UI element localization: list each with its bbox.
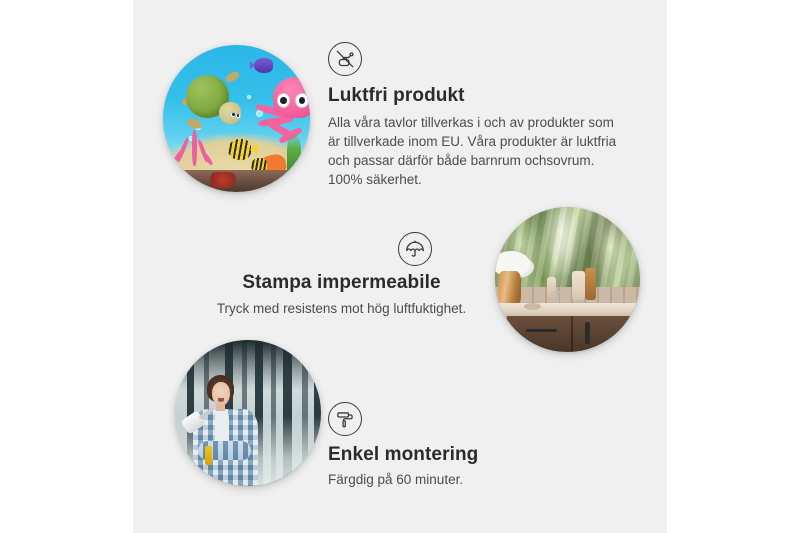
soap-dish — [524, 303, 541, 310]
octopus-icon — [257, 77, 310, 139]
no-spray-bottle-icon — [328, 42, 362, 76]
coral-icon — [175, 124, 213, 165]
photo-underwater-kids-mural — [163, 45, 310, 192]
feature-text: Tryck med resistens mot hög luftfuktighe… — [215, 299, 468, 318]
striped-fish-icon — [228, 139, 252, 160]
dispenser — [572, 271, 585, 300]
feature-title: Stampa impermeabile — [215, 272, 468, 294]
vanity-cabinet — [507, 316, 640, 352]
woman-figure — [184, 372, 275, 486]
icon-row — [215, 232, 468, 272]
seaweed-icon — [287, 133, 302, 171]
paint-roller-icon — [328, 402, 362, 436]
purple-fish-icon — [254, 58, 273, 73]
feature-text: Alla våra tavlor tillverkas i och av pro… — [328, 113, 628, 189]
promo-graphic: Luktfri produkt Alla våra tavlor tillver… — [0, 0, 800, 533]
feature-title: Enkel montering — [328, 444, 588, 466]
feature-title: Luktfri produkt — [328, 85, 628, 107]
feature-text: Färgdig på 60 minuter. — [328, 470, 588, 489]
wood-canister — [585, 268, 597, 300]
feature-odourless: Luktfri produkt Alla våra tavlor tillver… — [328, 42, 628, 189]
feature-waterproof: Stampa impermeabile Tryck med resistens … — [215, 232, 468, 318]
feature-easy-install: Enkel montering Färgdig på 60 minuter. — [328, 402, 588, 489]
room-floor-strip — [163, 170, 310, 192]
umbrella-icon — [398, 232, 432, 266]
turtle-icon — [182, 71, 244, 127]
photo-woman-paint-roller-forest — [175, 340, 321, 486]
photo-bathroom-tropical-wallpaper — [495, 207, 640, 352]
